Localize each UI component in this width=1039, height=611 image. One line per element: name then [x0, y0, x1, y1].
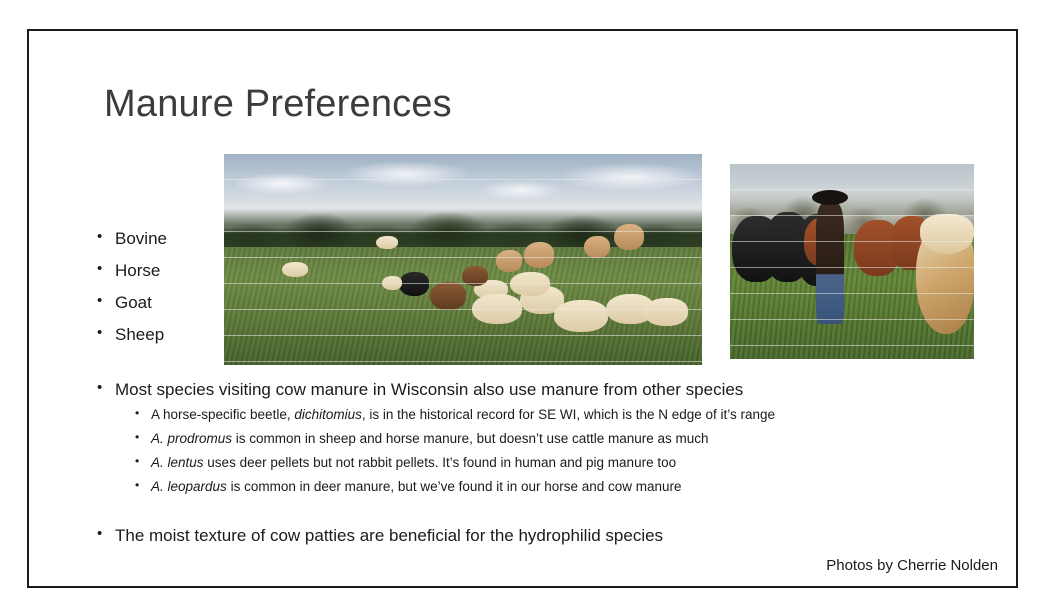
sub-bullet-post: uses deer pellets but not rabbit pellets…: [204, 455, 677, 470]
goat-figure: [430, 282, 466, 310]
sheep-figure: [376, 236, 398, 249]
sub-bullet-post: , is in the historical record for SE WI,…: [362, 407, 775, 422]
sheep-figure: [382, 276, 402, 290]
sheep-figure: [472, 294, 522, 324]
species-name: leopardus: [168, 479, 227, 494]
genus-abbrev: A.: [151, 479, 168, 494]
horse-mane: [920, 214, 974, 254]
sheep-figure: [554, 300, 608, 332]
main-bullet: Most species visiting cow manure in Wisc…: [97, 379, 977, 401]
cattle-herdsman-horse-photo: [730, 164, 974, 359]
horse-figure: [614, 224, 644, 250]
sub-bullet-pre: A horse-specific beetle,: [151, 407, 294, 422]
species-name: dichitomius: [294, 407, 362, 422]
sub-bullet: A. leopardus is common in deer manure, b…: [135, 479, 977, 496]
sub-bullet: A. lentus uses deer pellets but not rabb…: [135, 455, 977, 472]
horse-figure: [496, 250, 522, 272]
goat-figure: [399, 272, 429, 296]
sheep-figure: [510, 272, 550, 296]
sheep-figure: [282, 262, 308, 277]
pasture-sheep-goats-horses-photo: [224, 154, 702, 365]
cowboy-hat: [812, 190, 848, 205]
closing-bullet: The moist texture of cow patties are ben…: [97, 525, 977, 547]
body-content: Most species visiting cow manure in Wisc…: [97, 379, 977, 553]
photo-credit: Photos by Cherrie Nolden: [826, 557, 998, 574]
horse-figure: [524, 242, 554, 268]
sub-bullet-group: A horse-specific beetle, dichitomius, is…: [135, 407, 977, 496]
genus-abbrev: A.: [151, 431, 168, 446]
species-name: lentus: [168, 455, 204, 470]
sheep-figure: [644, 298, 688, 326]
sub-bullet: A horse-specific beetle, dichitomius, is…: [135, 407, 977, 424]
sub-bullet-post: is common in deer manure, but we’ve foun…: [227, 479, 682, 494]
spacer: [97, 503, 977, 525]
genus-abbrev: A.: [151, 455, 168, 470]
sub-bullet: A. prodromus is common in sheep and hors…: [135, 431, 977, 448]
species-name: prodromus: [168, 431, 233, 446]
page-title: Manure Preferences: [104, 83, 452, 126]
person-figure: [816, 204, 844, 324]
goat-figure: [462, 266, 488, 286]
horse-figure: [584, 236, 610, 258]
slide-canvas: Manure Preferences Bovine Horse Goat She…: [27, 29, 1018, 588]
sub-bullet-post: is common in sheep and horse manure, but…: [232, 431, 709, 446]
